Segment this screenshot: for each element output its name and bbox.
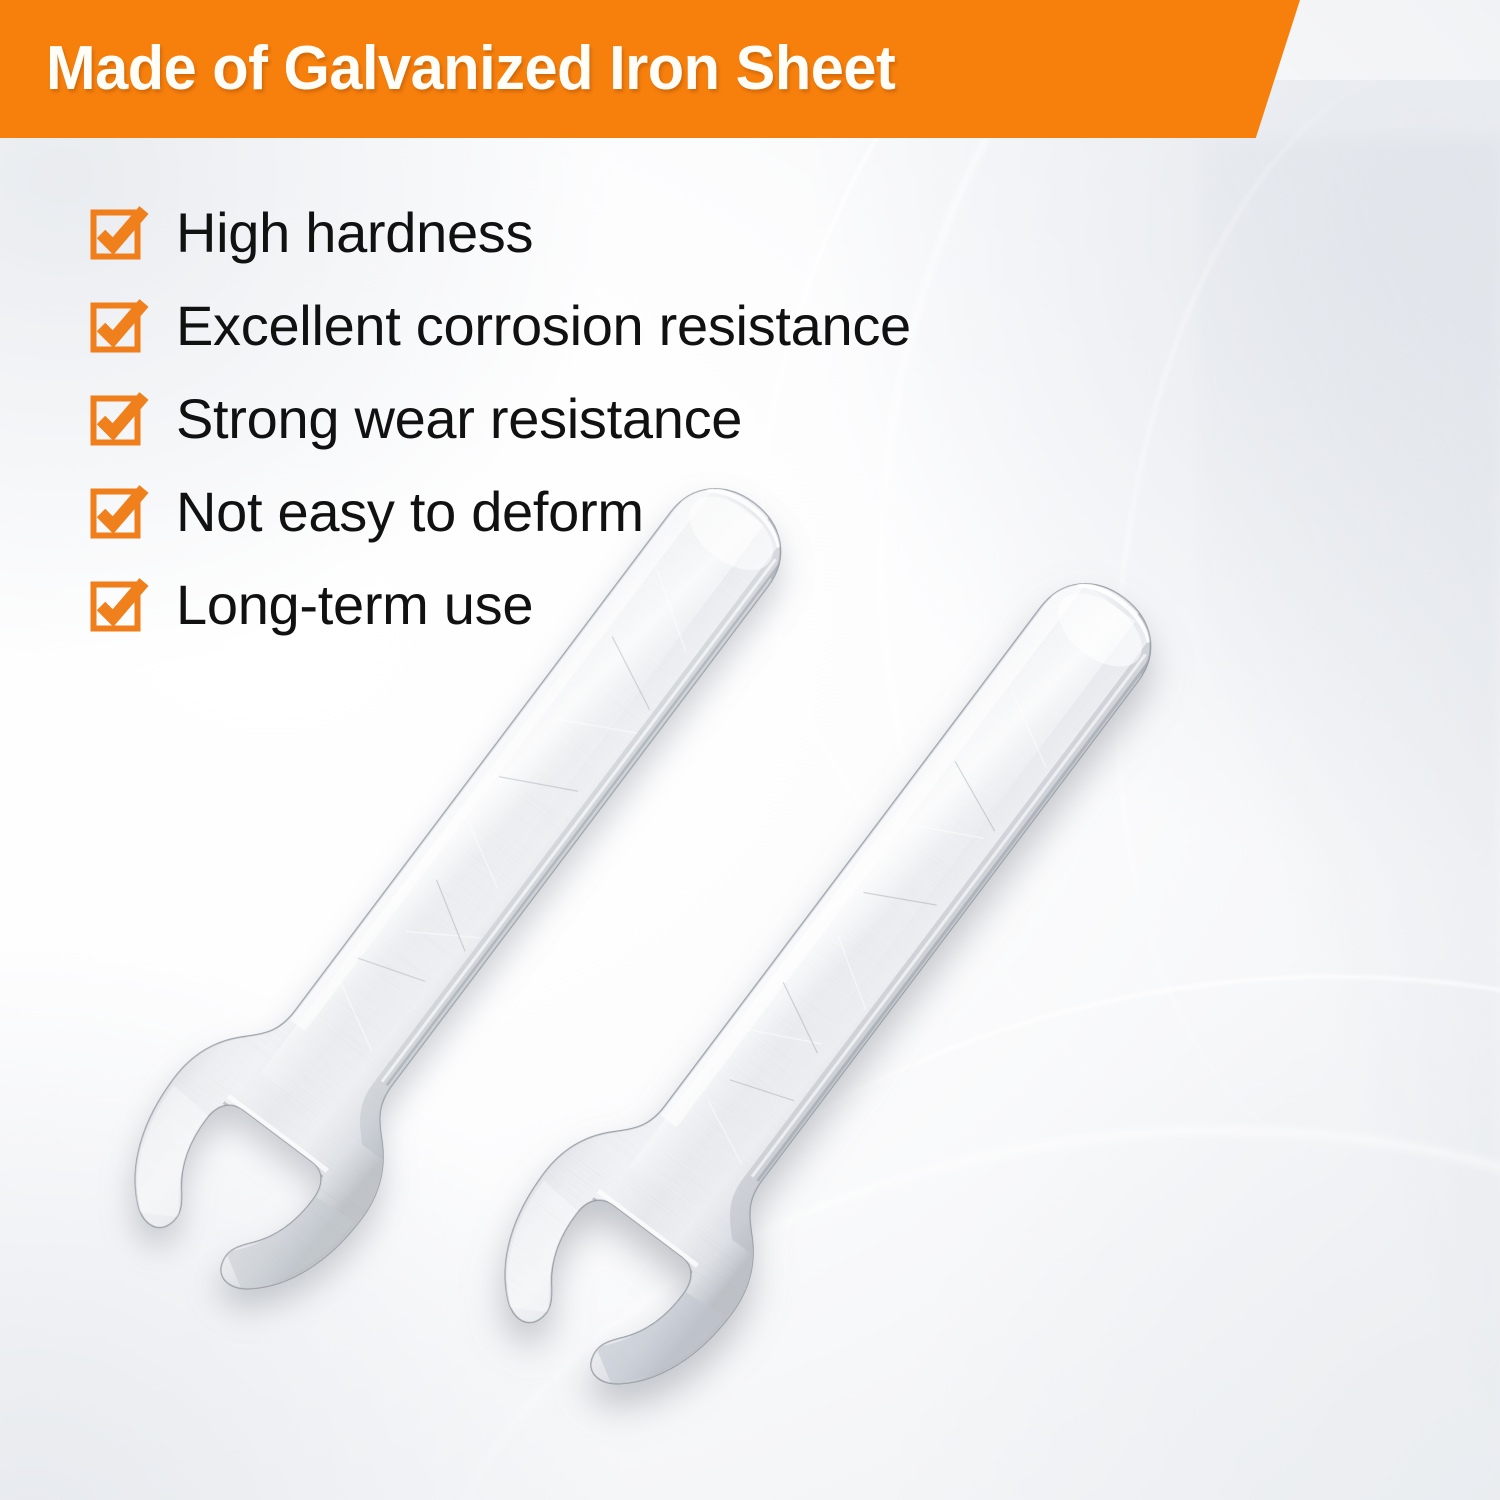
header-banner: Made of Galvanized Iron Sheet bbox=[0, 0, 1300, 138]
list-item-1: Excellent corrosion resistance bbox=[88, 279, 1088, 372]
checkbox-checked-icon bbox=[88, 574, 150, 636]
checkbox-checked-icon bbox=[88, 202, 150, 264]
page-title: Made of Galvanized Iron Sheet bbox=[46, 26, 895, 112]
list-item-3: Not easy to deform bbox=[88, 465, 1088, 558]
list-item-label: Excellent corrosion resistance bbox=[176, 295, 911, 357]
feature-list: High hardness Excellent corrosion resist… bbox=[48, 186, 1088, 651]
list-item-label: Strong wear resistance bbox=[176, 388, 742, 450]
list-item-4: Long-term use bbox=[88, 558, 1088, 651]
list-item-0: High hardness bbox=[88, 186, 1088, 279]
checkbox-checked-icon bbox=[88, 388, 150, 450]
checkbox-checked-icon bbox=[88, 481, 150, 543]
list-item-2: Strong wear resistance bbox=[88, 372, 1088, 465]
list-item-label: Not easy to deform bbox=[176, 481, 644, 543]
list-item-label: High hardness bbox=[176, 202, 533, 264]
checkbox-checked-icon bbox=[88, 295, 150, 357]
infographic-canvas: Made of Galvanized Iron Sheet High hardn… bbox=[0, 0, 1500, 1500]
list-item-label: Long-term use bbox=[176, 574, 533, 636]
